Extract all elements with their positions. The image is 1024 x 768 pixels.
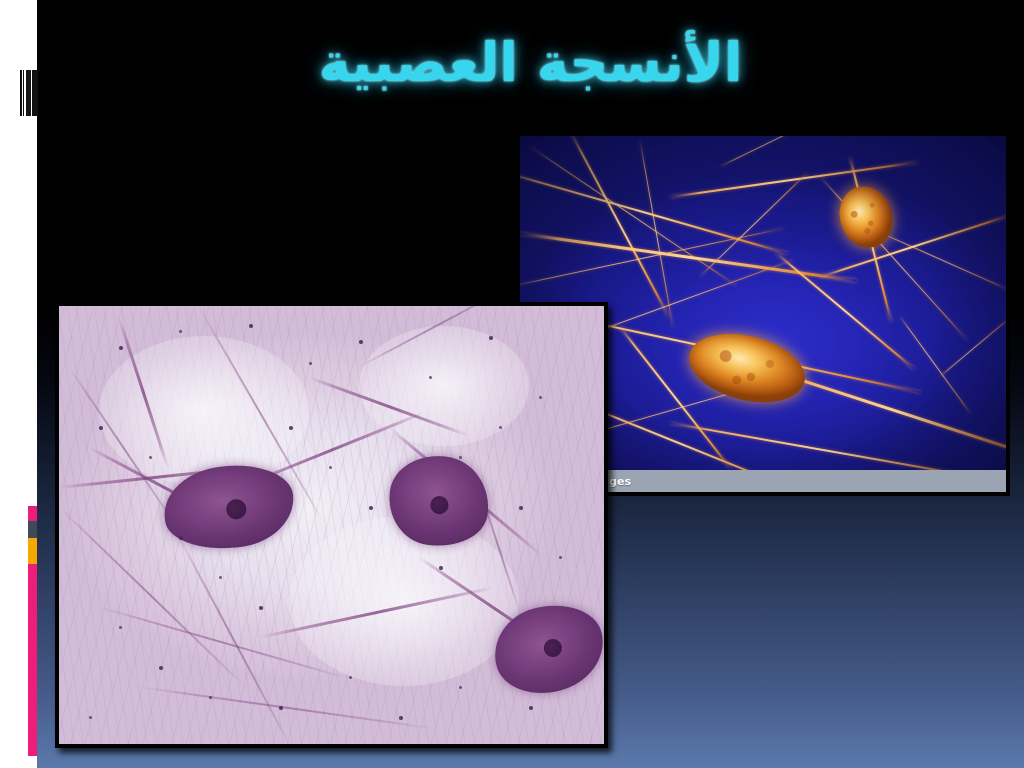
- histology-nucleus-dot: [289, 426, 293, 430]
- histology-nucleus: [429, 495, 449, 515]
- histology-nucleus-dot: [519, 506, 523, 510]
- histology-nucleus-dot: [99, 426, 103, 430]
- accent-bar-stack: [28, 506, 37, 756]
- histology-illustration: [59, 306, 604, 744]
- barcode-decoration-icon: [20, 70, 38, 116]
- histology-nucleus-dot: [489, 336, 493, 340]
- histology-nucleus-dot: [279, 706, 283, 710]
- histology-nucleus-dot: [459, 686, 462, 689]
- histology-nucleus-dot: [329, 466, 332, 469]
- histology-nucleus-dot: [179, 536, 183, 540]
- histology-nucleus-dot: [119, 626, 122, 629]
- slide-title: الأنسجة العصبية: [319, 34, 743, 92]
- histology-nucleus-dot: [499, 426, 502, 429]
- accent-bar-gold: [28, 538, 37, 564]
- presentation-slide: الأنسجة العصبية: [0, 0, 1024, 768]
- histology-nucleus-dot: [369, 506, 373, 510]
- histology-nucleus-dot: [159, 666, 163, 670]
- histology-nucleus-dot: [439, 566, 443, 570]
- accent-bar-slate: [28, 521, 37, 538]
- histology-nucleus-dot: [219, 576, 222, 579]
- histology-nucleus-dot: [249, 324, 253, 328]
- histology-nucleus-dot: [209, 696, 212, 699]
- histology-nucleus-dot: [149, 456, 152, 459]
- histology-nucleus: [542, 638, 564, 660]
- accent-bar-magenta: [28, 564, 37, 756]
- histology-nucleus-dot: [459, 456, 462, 459]
- histology-nucleus-dot: [259, 606, 263, 610]
- histology-nucleus-dot: [89, 716, 92, 719]
- histology-nucleus-dot: [539, 396, 542, 399]
- histology-nucleus-dot: [119, 346, 123, 350]
- title-container: الأنسجة العصبية: [37, 34, 1024, 92]
- histology-nucleus-dot: [429, 376, 432, 379]
- histology-nucleus-dot: [359, 340, 363, 344]
- histology-nucleus-dot: [559, 556, 562, 559]
- histology-nucleus: [226, 499, 248, 521]
- histology-nucleus-dot: [179, 330, 182, 333]
- histology-nucleus-dot: [349, 676, 352, 679]
- accent-bar-pink: [28, 506, 37, 521]
- image-neurons-histology[interactable]: [55, 302, 608, 748]
- histology-nucleus-dot: [529, 706, 533, 710]
- histology-nucleus-dot: [399, 716, 403, 720]
- histology-nucleus-dot: [309, 362, 312, 365]
